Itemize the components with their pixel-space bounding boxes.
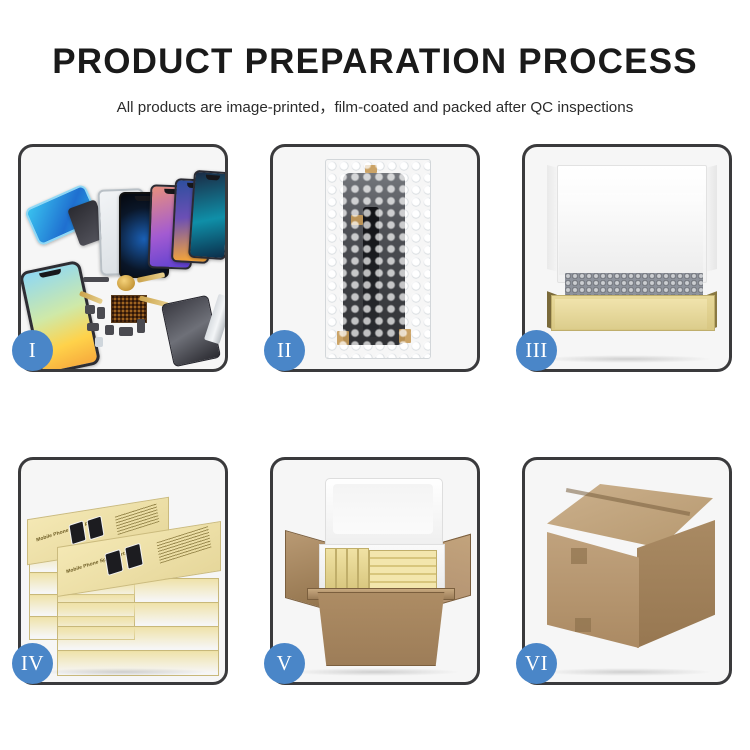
drop-shadow xyxy=(541,355,712,363)
step-panel-6[interactable] xyxy=(522,457,732,685)
phone-notch-icon xyxy=(206,175,220,181)
small-part xyxy=(97,307,105,319)
drop-shadow xyxy=(541,668,712,676)
gold-chip-component xyxy=(117,275,135,291)
tape-piece xyxy=(365,165,377,173)
page-header: PRODUCT PREPARATION PROCESS All products… xyxy=(0,0,750,117)
phone-screen-teal xyxy=(188,170,225,260)
step-panel-5[interactable] xyxy=(270,457,480,685)
yellow-package xyxy=(325,548,336,590)
step-panel-2[interactable] xyxy=(270,144,480,372)
carton-tape-upper xyxy=(571,548,587,564)
step-badge-2: II xyxy=(264,330,305,371)
page-title: PRODUCT PREPARATION PROCESS xyxy=(0,0,750,82)
yellow-package xyxy=(336,548,347,590)
drop-shadow xyxy=(37,668,208,676)
small-part xyxy=(85,305,95,314)
box-spec-lines xyxy=(115,503,160,535)
step-4-image: Mobile Phone Spare Parts Mobile Phone Sp… xyxy=(21,460,225,682)
step-badge-4: IV xyxy=(12,643,53,684)
tape-piece xyxy=(351,215,363,225)
box-base-front xyxy=(555,299,707,329)
tape-piece xyxy=(399,329,411,343)
step-6-image xyxy=(525,460,729,682)
small-part xyxy=(87,323,99,331)
stacked-box xyxy=(57,602,219,628)
page-subtitle: All products are image-printed，film-coat… xyxy=(0,82,750,117)
box-phone-graphic xyxy=(104,549,123,576)
step-panel-4[interactable]: Mobile Phone Spare Parts Mobile Phone Sp… xyxy=(18,457,228,685)
carton-front xyxy=(309,592,453,666)
small-part xyxy=(95,337,103,347)
box-phone-graphic xyxy=(68,520,86,545)
small-part xyxy=(105,325,114,335)
yellow-package-stack xyxy=(369,550,437,590)
foam-insert xyxy=(559,193,703,275)
small-part xyxy=(119,327,133,336)
process-steps-grid: Mobile Phone Spare Parts Mobile Phone Sp… xyxy=(18,144,732,685)
step-3-image xyxy=(525,147,729,369)
stacked-box xyxy=(57,626,219,652)
step-panel-3[interactable] xyxy=(522,144,732,372)
step-5-image xyxy=(273,460,477,682)
step-badge-3: III xyxy=(516,330,557,371)
box-phone-graphic xyxy=(86,515,104,540)
small-part xyxy=(137,319,145,333)
carton-front-face xyxy=(547,532,639,648)
box-phone-graphic xyxy=(124,543,143,570)
drop-shadow xyxy=(289,668,460,676)
yellow-package xyxy=(358,548,369,590)
box-spec-lines xyxy=(157,526,212,563)
tape-piece xyxy=(337,331,349,345)
step-1-image xyxy=(21,147,225,369)
carton-tape-lower xyxy=(575,618,591,632)
step-panel-1[interactable] xyxy=(18,144,228,372)
step-badge-1: I xyxy=(12,330,53,371)
step-badge-5: V xyxy=(264,643,305,684)
step-2-image xyxy=(273,147,477,369)
step-badge-6: VI xyxy=(516,643,557,684)
wrapped-part-strip xyxy=(363,207,379,337)
small-part xyxy=(83,277,109,282)
box-stack: Mobile Phone Spare Parts Mobile Phone Sp… xyxy=(27,478,223,670)
yellow-package xyxy=(347,548,358,590)
phone-notch-icon xyxy=(39,269,62,279)
foam-box-lid-inner xyxy=(333,484,433,534)
